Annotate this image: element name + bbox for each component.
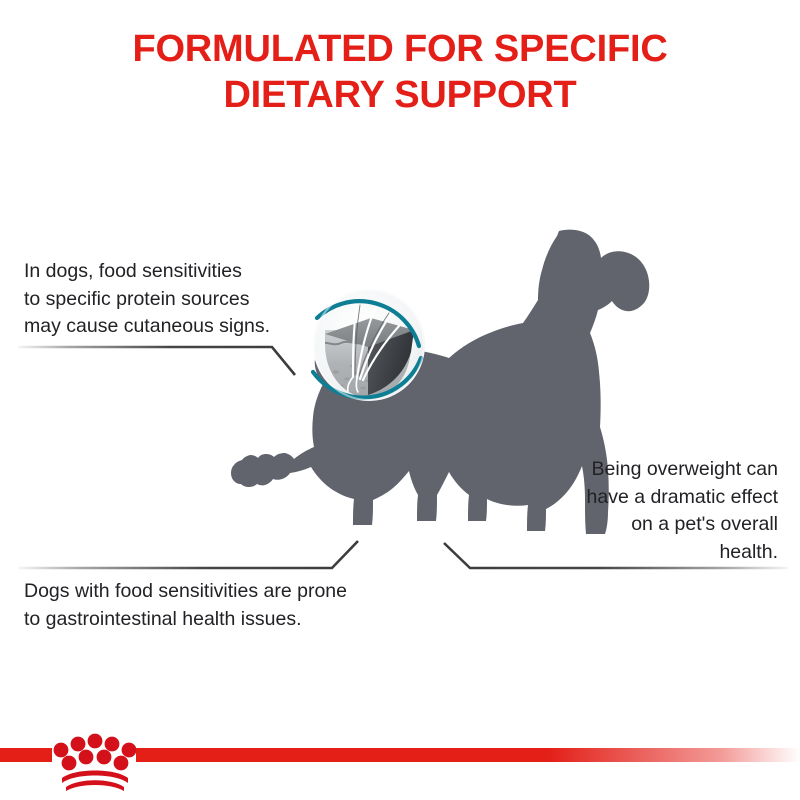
royal-canin-crown-logo [54,734,137,791]
footer-bar-right [136,748,800,762]
callout-skin-sensitivities: In dogs, food sensitivities to specific … [24,258,314,341]
infographic-root: FORMULATED FOR SPECIFIC DIETARY SUPPORT [0,0,800,800]
footer-bar-left [0,748,52,762]
illustration-canvas [0,0,800,800]
footer-brand-bar [0,716,800,800]
leader-line-gi [18,541,358,568]
callout-gastrointestinal: Dogs with food sensitivities are prone t… [24,578,444,633]
callout-overweight: Being overweight can have a dramatic eff… [518,456,778,567]
leader-line-skin [18,347,295,375]
